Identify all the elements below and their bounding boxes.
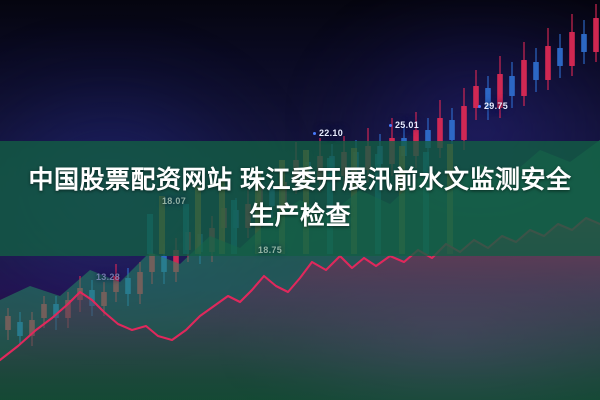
marker-dot-icon [478, 105, 481, 108]
marker-dot-icon [389, 124, 392, 127]
price-label: 13.28 [96, 272, 120, 282]
banner-title: 中国股票配资网站 珠江委开展汛前水文监测安全 生产检查 [0, 141, 600, 256]
price-label: 25.01 [389, 120, 419, 130]
title-line-2: 生产检查 [249, 202, 351, 232]
price-label: 22.10 [313, 128, 343, 138]
price-label: 29.75 [478, 101, 508, 111]
price-label-text: 29.75 [484, 101, 508, 111]
price-label-text: 13.28 [96, 272, 120, 282]
marker-dot-icon [313, 132, 316, 135]
price-label-text: 25.01 [395, 120, 419, 130]
price-label-text: 22.10 [319, 128, 343, 138]
title-line-1: 中国股票配资网站 珠江委开展汛前水文监测安全 [29, 166, 572, 196]
banner-stage: 13.2818.0718.7522.1025.0129.75 中国股票配资网站 … [0, 0, 600, 400]
